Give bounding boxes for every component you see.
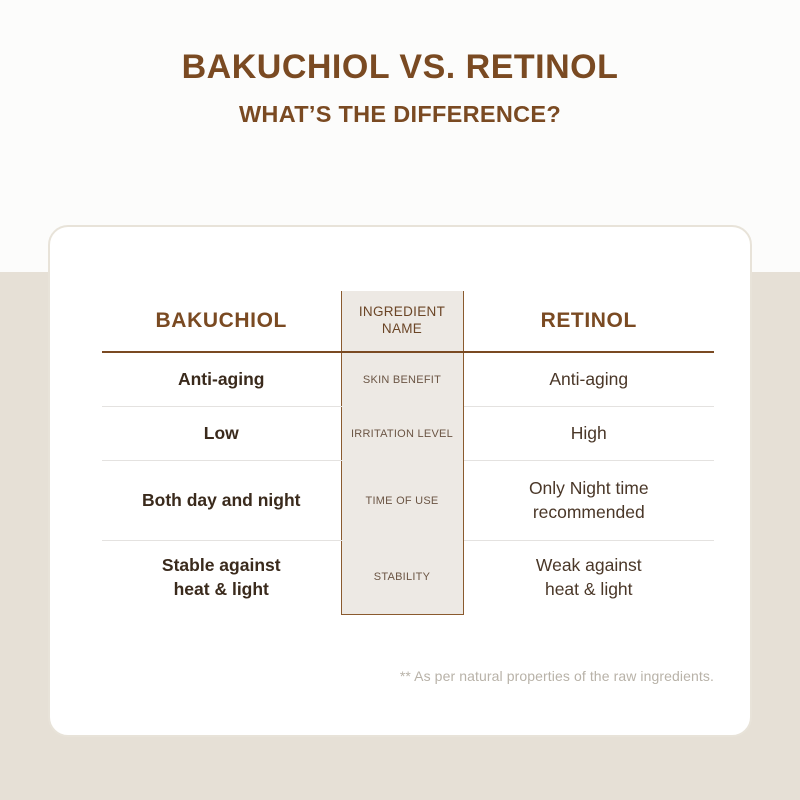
infographic-stage: BAKUCHIOL VS. RETINOL WHAT’S THE DIFFERE…	[0, 0, 800, 800]
column-header-attribute: INGREDIENT NAME	[341, 291, 463, 352]
column-header-bakuchiol: BAKUCHIOL	[102, 291, 341, 352]
cell-retinol-stability-line1: Weak against	[536, 555, 642, 575]
cell-retinol-stability: Weak against heat & light	[463, 541, 714, 615]
cell-bakuchiol-stability-line2: heat & light	[174, 579, 269, 599]
cell-attribute-skin-benefit: SKIN BENEFIT	[341, 352, 463, 407]
table-row: Low IRRITATION LEVEL High	[102, 407, 714, 461]
cell-retinol-stability-line2: heat & light	[545, 579, 633, 599]
column-header-retinol: RETINOL	[463, 291, 714, 352]
cell-bakuchiol-stability: Stable against heat & light	[102, 541, 341, 615]
cell-attribute-irritation-level: IRRITATION LEVEL	[341, 407, 463, 461]
footnote-text: ** As per natural properties of the raw …	[102, 668, 714, 684]
comparison-card: BAKUCHIOL INGREDIENT NAME RETINOL Anti-a…	[48, 225, 752, 737]
cell-attribute-time-of-use: TIME OF USE	[341, 461, 463, 541]
page-title: BAKUCHIOL VS. RETINOL	[0, 48, 800, 86]
table-header-row: BAKUCHIOL INGREDIENT NAME RETINOL	[102, 291, 714, 352]
cell-attribute-stability: STABILITY	[341, 541, 463, 615]
cell-retinol-irritation-level: High	[463, 407, 714, 461]
cell-retinol-skin-benefit: Anti-aging	[463, 352, 714, 407]
cell-retinol-time-of-use: Only Night time recommended	[463, 461, 714, 541]
comparison-table-wrapper: BAKUCHIOL INGREDIENT NAME RETINOL Anti-a…	[102, 291, 714, 615]
cell-retinol-time-of-use-line2: recommended	[533, 502, 645, 522]
column-header-attribute-line2: NAME	[382, 321, 422, 336]
table-row: Both day and night TIME OF USE Only Nigh…	[102, 461, 714, 541]
table-row: Anti-aging SKIN BENEFIT Anti-aging	[102, 352, 714, 407]
page-subtitle: WHAT’S THE DIFFERENCE?	[0, 100, 800, 128]
heading-block: BAKUCHIOL VS. RETINOL WHAT’S THE DIFFERE…	[0, 48, 800, 128]
column-header-attribute-line1: INGREDIENT	[359, 304, 445, 319]
cell-bakuchiol-irritation-level: Low	[102, 407, 341, 461]
cell-retinol-time-of-use-line1: Only Night time	[529, 478, 649, 498]
cell-bakuchiol-stability-line1: Stable against	[162, 555, 281, 575]
cell-bakuchiol-time-of-use: Both day and night	[102, 461, 341, 541]
comparison-table: BAKUCHIOL INGREDIENT NAME RETINOL Anti-a…	[102, 291, 714, 615]
table-row: Stable against heat & light STABILITY We…	[102, 541, 714, 615]
cell-bakuchiol-skin-benefit: Anti-aging	[102, 352, 341, 407]
